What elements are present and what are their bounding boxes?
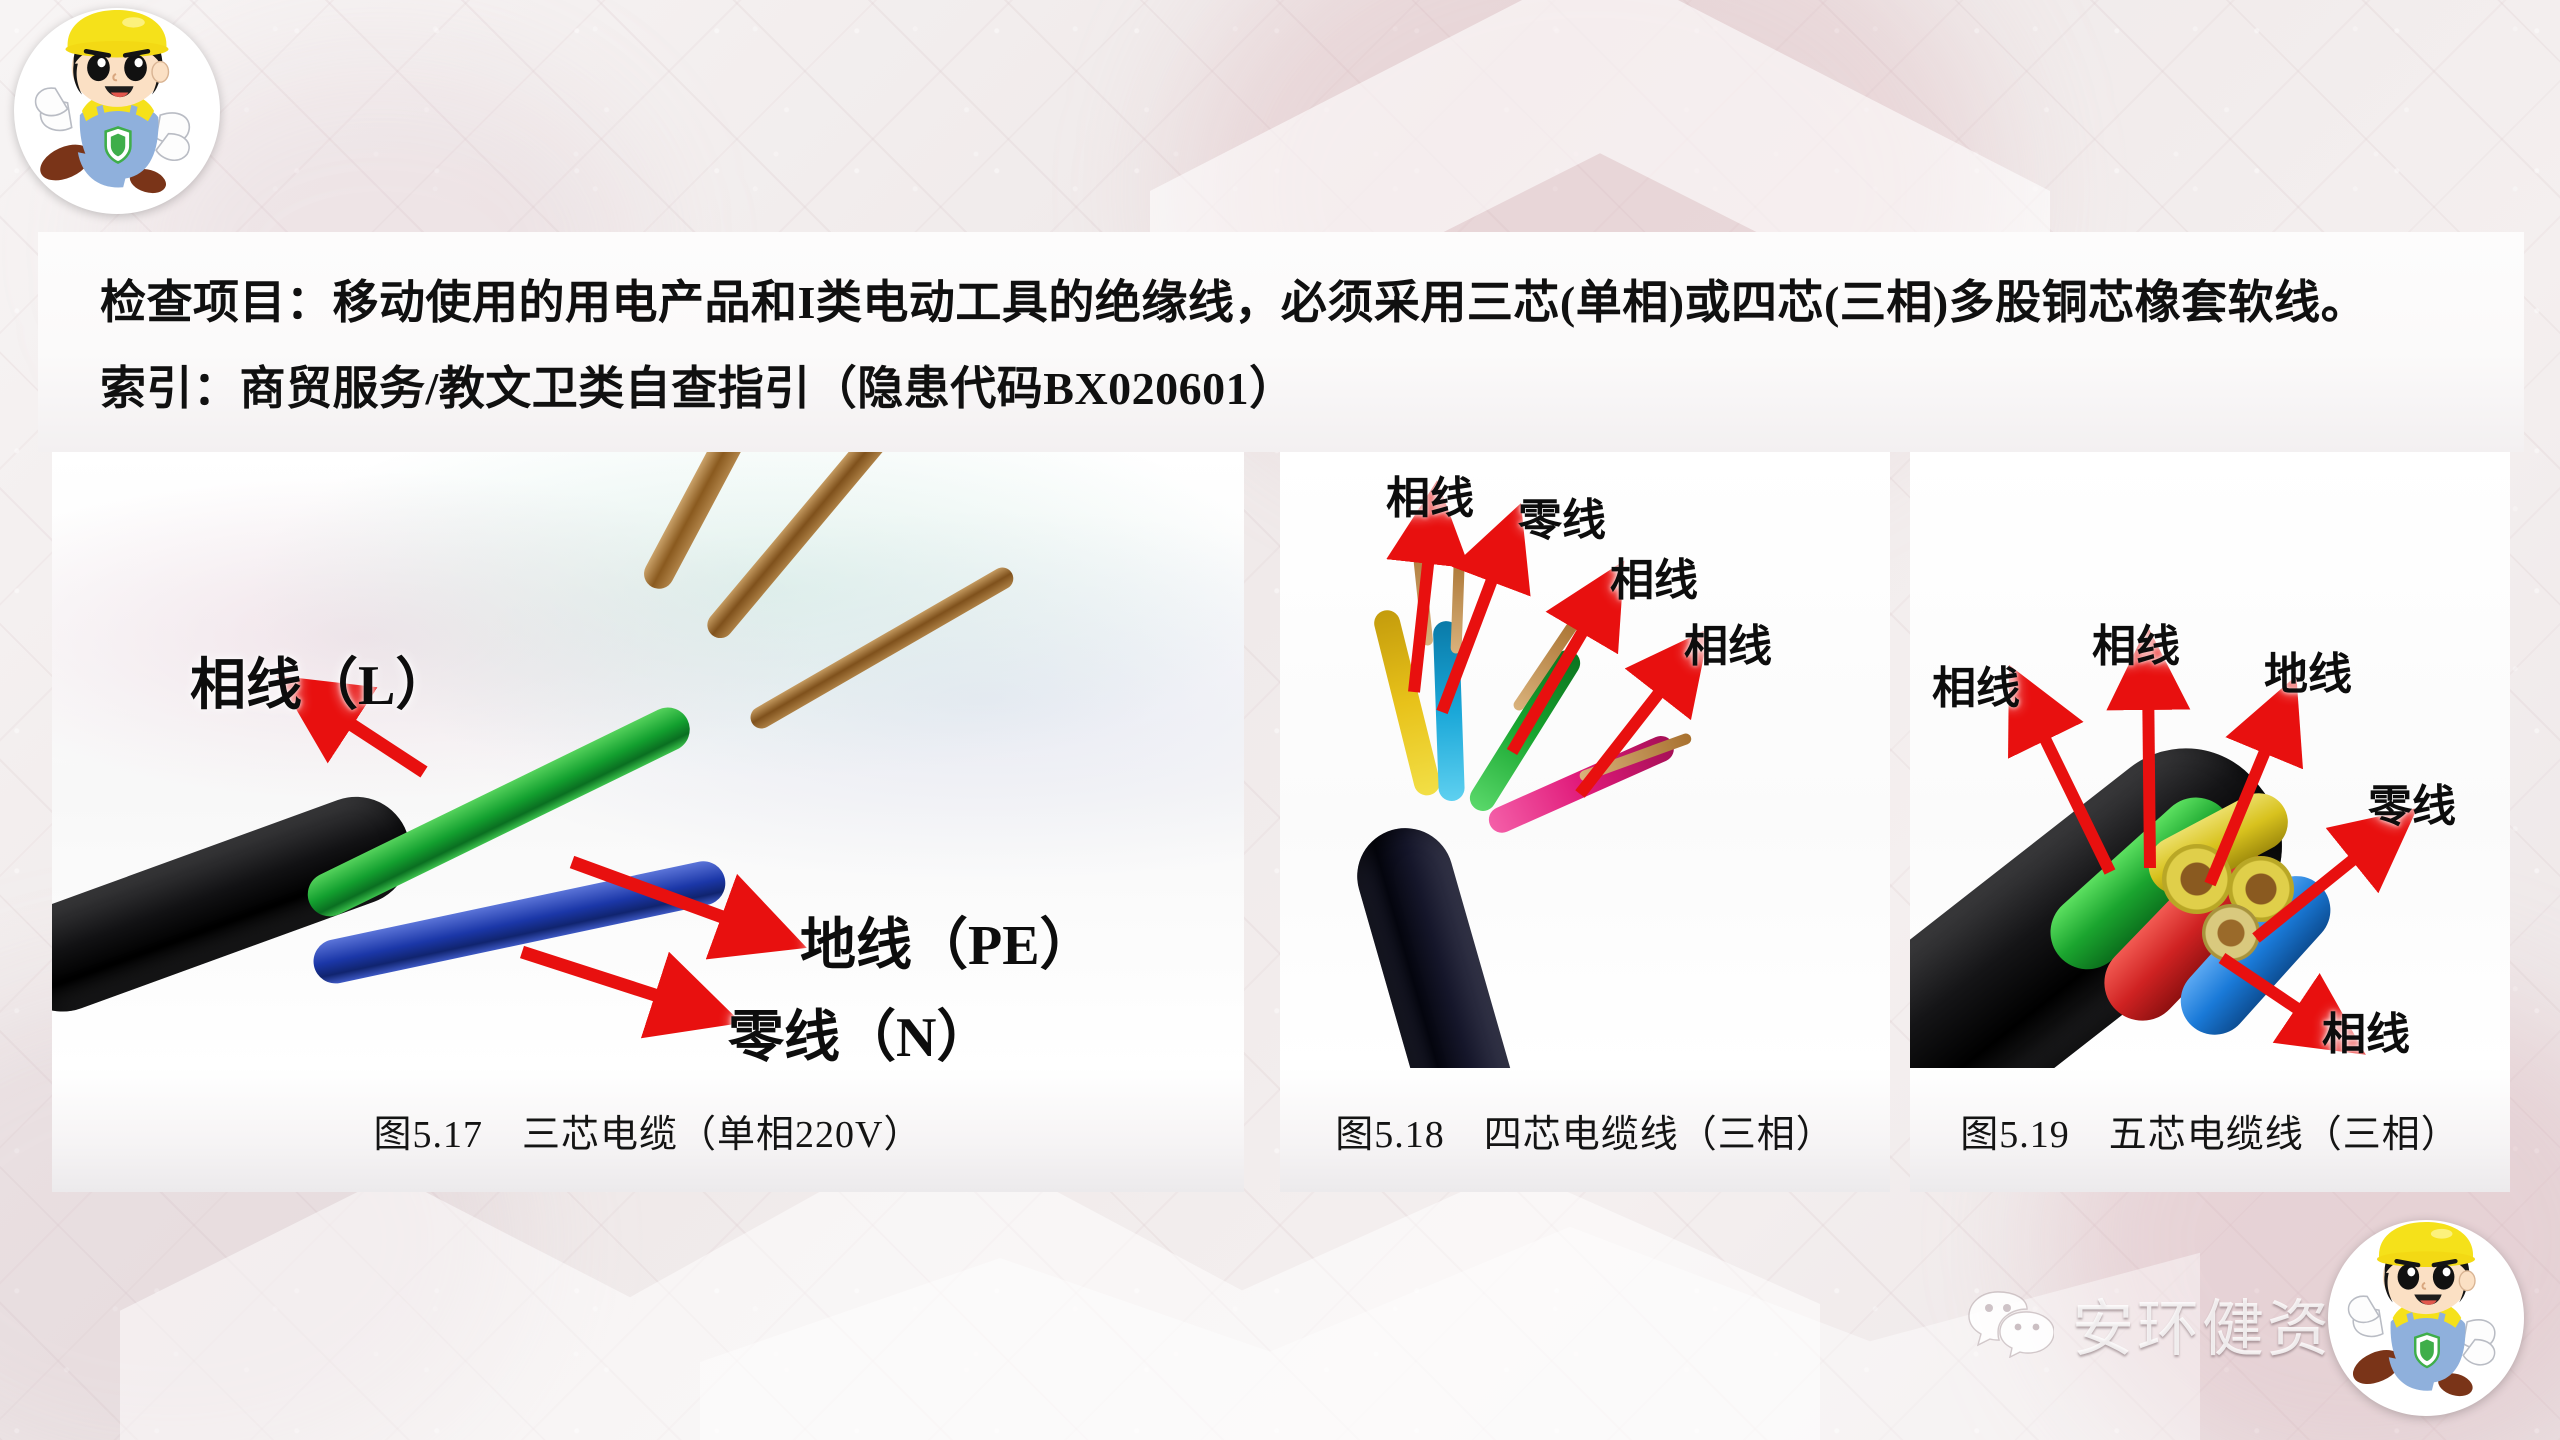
check-item-heading: 检查项目：移动使用的用电产品和I类电动工具的绝缘线，必须采用三芯(单相)或四芯(… (100, 266, 2367, 332)
index-reference-line: 索引：商贸服务/教文卫类自查指引（隐患代码BX020601） (100, 352, 1296, 418)
mascot-badge-top-left (14, 8, 220, 214)
annotation-label-live-left: 相线 (1932, 652, 2020, 716)
annotation-label-earth: 地线 (2264, 638, 2352, 702)
annotation-label-neutral: 零线 (1518, 484, 1606, 548)
figure-photo-four-core: 相线 零线 相线 相线 (1280, 452, 1890, 1068)
figure-photo-five-core: 相线 相线 地线 零线 相线 (1910, 452, 2510, 1068)
annotation-label-live-L: 相线（L） (190, 640, 451, 721)
figure-photo-three-core: 相线（L） 地线（PE） 零线（N） (52, 452, 1244, 1068)
annotation-label-live-top: 相线 (2092, 610, 2180, 674)
annotation-label-live-1: 相线 (1386, 462, 1474, 526)
figure-caption-four-core: 图5.18 四芯电缆线（三相） (1280, 1068, 1890, 1192)
annotation-label-live-3: 相线 (1684, 610, 1772, 674)
mascot-badge-bottom-right (2328, 1220, 2524, 1416)
annotation-arrows-five-core (1910, 452, 2510, 1068)
wechat-icon (1968, 1288, 2054, 1358)
figures-row: 相线（L） 地线（PE） 零线（N） 图5.17 三芯电缆（单相220V） (38, 452, 2524, 1192)
figure-card-three-core: 相线（L） 地线（PE） 零线（N） 图5.17 三芯电缆（单相220V） (52, 452, 1244, 1192)
annotation-label-earth-PE: 地线（PE） (800, 900, 1096, 981)
slide-root: 检查项目：移动使用的用电产品和I类电动工具的绝缘线，必须采用三芯(单相)或四芯(… (0, 0, 2560, 1440)
figure-card-four-core: 相线 零线 相线 相线 图5.18 四芯电缆线（三相） (1280, 452, 1890, 1192)
annotation-label-neutral-N: 零线（N） (728, 992, 992, 1068)
figure-caption-five-core: 图5.19 五芯电缆线（三相） (1910, 1068, 2510, 1192)
header-panel: 检查项目：移动使用的用电产品和I类电动工具的绝缘线，必须采用三芯(单相)或四芯(… (38, 232, 2524, 452)
safety-worker-mascot-icon (14, 8, 220, 214)
figure-caption-three-core: 图5.17 三芯电缆（单相220V） (52, 1068, 1244, 1192)
annotation-label-live-2: 相线 (1610, 544, 1698, 608)
figure-card-five-core: 相线 相线 地线 零线 相线 图5.19 五芯电缆线（三相） (1910, 452, 2510, 1192)
annotation-label-neutral: 零线 (2368, 770, 2456, 834)
annotation-label-live-bottom: 相线 (2322, 998, 2410, 1062)
safety-worker-mascot-icon (2328, 1220, 2524, 1416)
